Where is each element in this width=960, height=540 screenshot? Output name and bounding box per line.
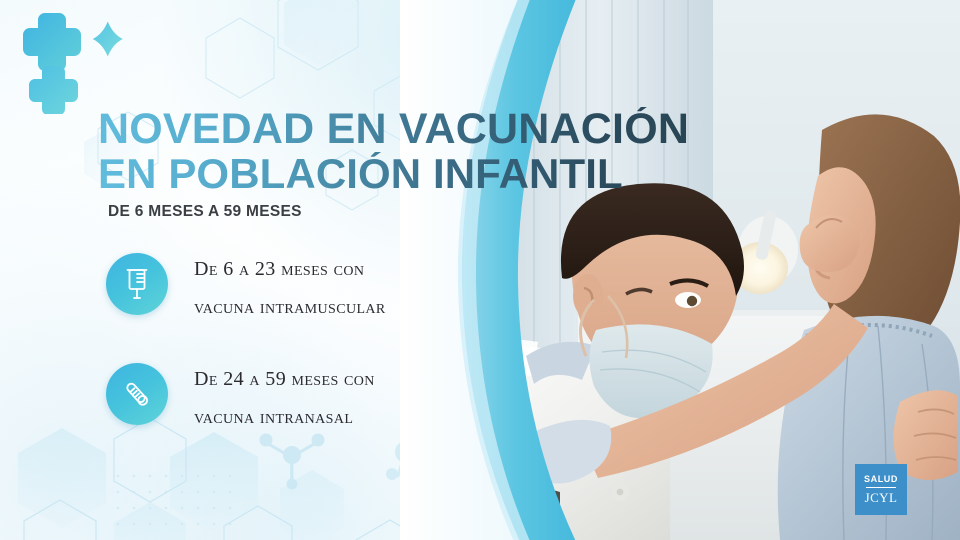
title-line-2: EN POBLACIÓN INFANTIL	[98, 152, 738, 197]
slide: NOVEDAD EN VACUNACIÓN EN POBLACIÓN INFAN…	[0, 0, 960, 540]
logo-secondary-text: JCYL	[865, 491, 898, 504]
list-item-text: De 24 a 59 meses con vacuna intranasal	[194, 363, 375, 429]
syringe-vial-icon	[106, 253, 168, 315]
subtitle: DE 6 MESES A 59 MESES	[108, 203, 302, 221]
decorative-crosses	[14, 4, 144, 114]
title-line-1: NOVEDAD EN VACUNACIÓN	[98, 107, 738, 153]
list-item-text: De 6 a 23 meses con vacuna intramuscular	[194, 253, 386, 319]
logo-salud-jcyl: SALUD JCYL	[855, 464, 907, 515]
cross-icon-medium	[29, 66, 78, 114]
list-item-line-1: De 24 a 59 meses con	[194, 368, 375, 391]
list-item-line-2: vacuna intramuscular	[194, 296, 386, 319]
nasal-spray-icon	[106, 363, 168, 425]
cross-icon-small	[93, 22, 123, 57]
list-item-line-1: De 6 a 23 meses con	[194, 258, 386, 281]
list-item: De 24 a 59 meses con vacuna intranasal	[106, 363, 375, 429]
logo-primary-text: SALUD	[864, 475, 898, 484]
logo-divider	[866, 487, 896, 488]
cross-icon-large	[23, 13, 81, 71]
curved-divider	[400, 0, 620, 540]
list-item: De 6 a 23 meses con vacuna intramuscular	[106, 253, 386, 319]
list-item-line-2: vacuna intranasal	[194, 406, 375, 429]
page-title: NOVEDAD EN VACUNACIÓN EN POBLACIÓN INFAN…	[98, 107, 738, 197]
